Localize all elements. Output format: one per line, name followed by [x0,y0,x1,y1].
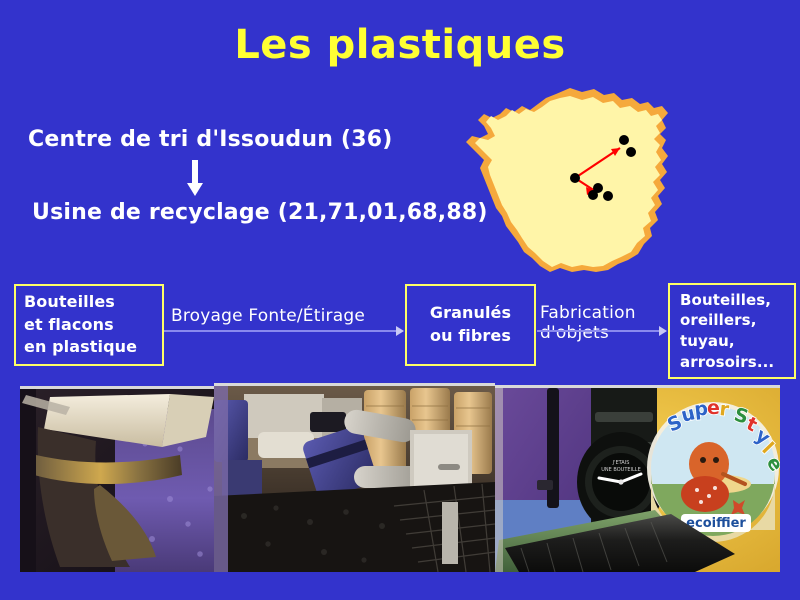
slide: Les plastiques Centre de tri d'Issoudun … [0,0,800,600]
flow-arrow-1 [164,330,398,332]
svg-text:J'ETAIS: J'ETAIS [612,460,630,466]
flow-box-3-line-2: oreillers, [680,310,794,331]
flow-box-input-materials: Bouteilles et flacons en plastique [14,284,164,366]
flow-arrow-2-head-icon [659,326,667,336]
flow-box-1-line-2: et flacons [24,314,162,337]
flow-arrow-1-head-icon [396,326,404,336]
flow-box-3-line-3: tuyau, [680,331,794,352]
flow-label-2-line-1: Fabrication [540,303,655,323]
photo-recycled-products: J'ETAIS UNE BOUTEILLE S u p [495,385,780,572]
page-title: Les plastiques [0,22,800,68]
svg-text:ecoiffier: ecoiffier [686,516,746,531]
sorting-center-label: Centre de tri d'Issoudun (36) [28,127,392,152]
flow-box-3-line-4: arrosoirs... [680,352,794,373]
flow-box-2-line-2: ou fibres [407,325,534,348]
flow-arrow-2 [537,330,661,332]
flow-label-2-line-2: d'objets [540,323,655,343]
france-outline [466,88,668,272]
recycling-plant-label: Usine de recyclage (21,71,01,68,88) [32,200,488,225]
photo-extrusion-machinery [214,383,495,572]
france-map [462,86,700,276]
flow-box-2-line-1: Granulés [407,302,534,325]
svg-text:UNE BOUTEILLE: UNE BOUTEILLE [601,467,641,473]
flow-box-3-line-1: Bouteilles, [680,290,794,311]
flow-box-1-line-1: Bouteilles [24,291,162,314]
flow-box-intermediate-product: Granulés ou fibres [405,284,536,366]
down-arrow-icon [186,160,204,196]
photo-purple-flakes [20,386,214,572]
flow-label-grinding-melting: Broyage Fonte/Étirage [171,306,365,326]
flow-box-final-products: Bouteilles, oreillers, tuyau, arrosoirs.… [668,283,796,379]
flow-box-1-line-3: en plastique [24,336,162,359]
flow-label-object-manufacturing: Fabrication d'objets [540,303,655,344]
